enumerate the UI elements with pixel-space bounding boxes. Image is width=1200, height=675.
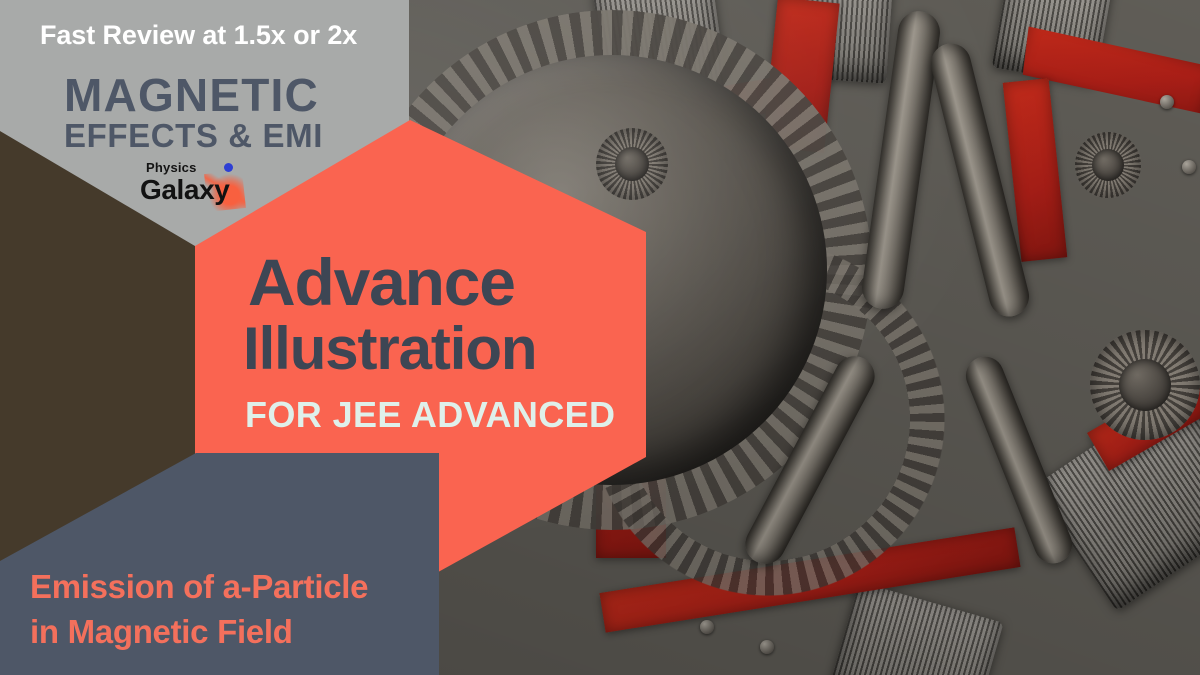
badge-subtitle: FOR JEE ADVANCED <box>245 397 615 433</box>
lesson-title-line2: in Magnetic Field <box>30 610 368 655</box>
physics-galaxy-logo: Physics Galaxy <box>140 160 258 212</box>
tagline-text: Fast Review at 1.5x or 2x <box>40 20 357 51</box>
topic-title-line2: EFFECTS & EMI <box>64 119 323 152</box>
video-thumbnail: Fast Review at 1.5x or 2x MAGNETIC EFFEC… <box>0 0 1200 675</box>
badge-title-line2: Illustration <box>243 319 536 379</box>
lesson-title-line1: Emission of a-Particle <box>30 568 368 605</box>
lesson-title: Emission of a-Particle in Magnetic Field <box>30 565 368 654</box>
logo-word-galaxy: Galaxy <box>140 174 229 206</box>
logo-word-physics: Physics <box>146 160 197 175</box>
topic-title-line1: MAGNETIC <box>64 72 319 118</box>
badge-title-line1: Advance <box>248 249 515 315</box>
blue-dot-icon <box>224 163 233 172</box>
